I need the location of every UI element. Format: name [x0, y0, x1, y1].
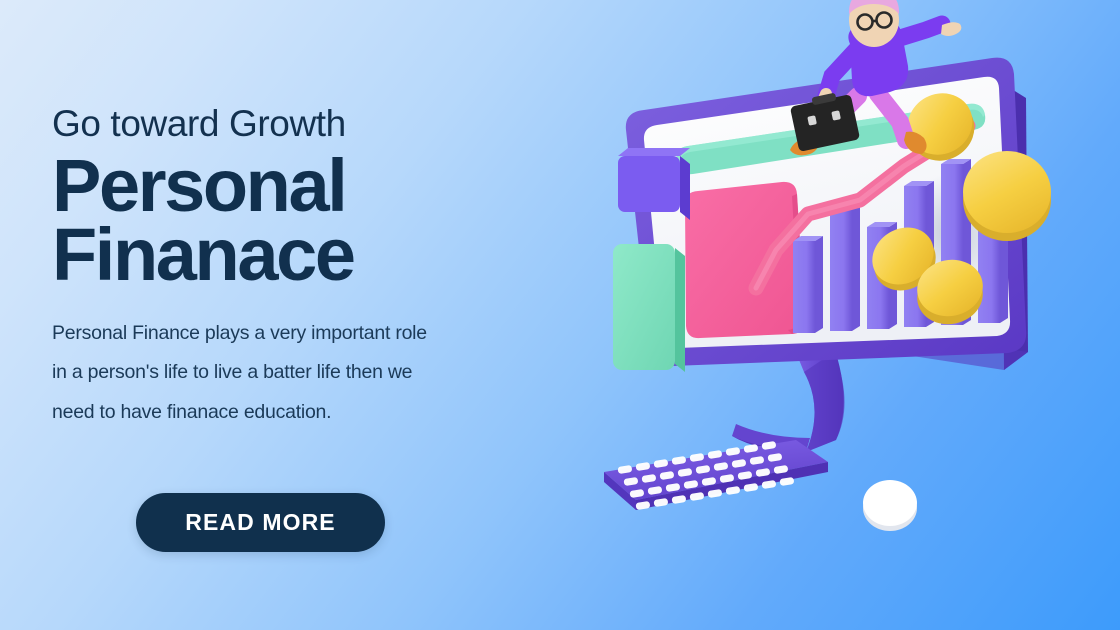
bar-2 — [830, 204, 860, 331]
paragraph-line-3: need to have finanace education. — [52, 393, 504, 432]
coin-2 — [963, 151, 1051, 241]
keyboard — [604, 440, 828, 510]
hero-paragraph: Personal Finance plays a very important … — [52, 314, 504, 432]
headline-line-2: Finanace — [52, 220, 572, 290]
hero-eyebrow: Go toward Growth — [52, 104, 572, 145]
hero-banner: Go toward Growth Personal Finanace Perso… — [0, 0, 1120, 630]
screen-pink-panel — [685, 182, 805, 338]
floating-card-mint — [613, 244, 685, 372]
bar-1 — [793, 236, 823, 333]
paragraph-line-1: Personal Finance plays a very important … — [52, 314, 504, 353]
page-title: Personal Finanace — [52, 151, 572, 290]
finance-illustration — [560, 0, 1120, 630]
mouse — [863, 480, 917, 531]
monitor-stand — [732, 350, 845, 452]
hero-copy-block: Go toward Growth Personal Finanace Perso… — [52, 104, 572, 432]
headline-line-1: Personal — [52, 151, 572, 221]
paragraph-line-2: in a person's life to live a batter life… — [52, 353, 504, 392]
read-more-button[interactable]: READ MORE — [136, 493, 385, 552]
